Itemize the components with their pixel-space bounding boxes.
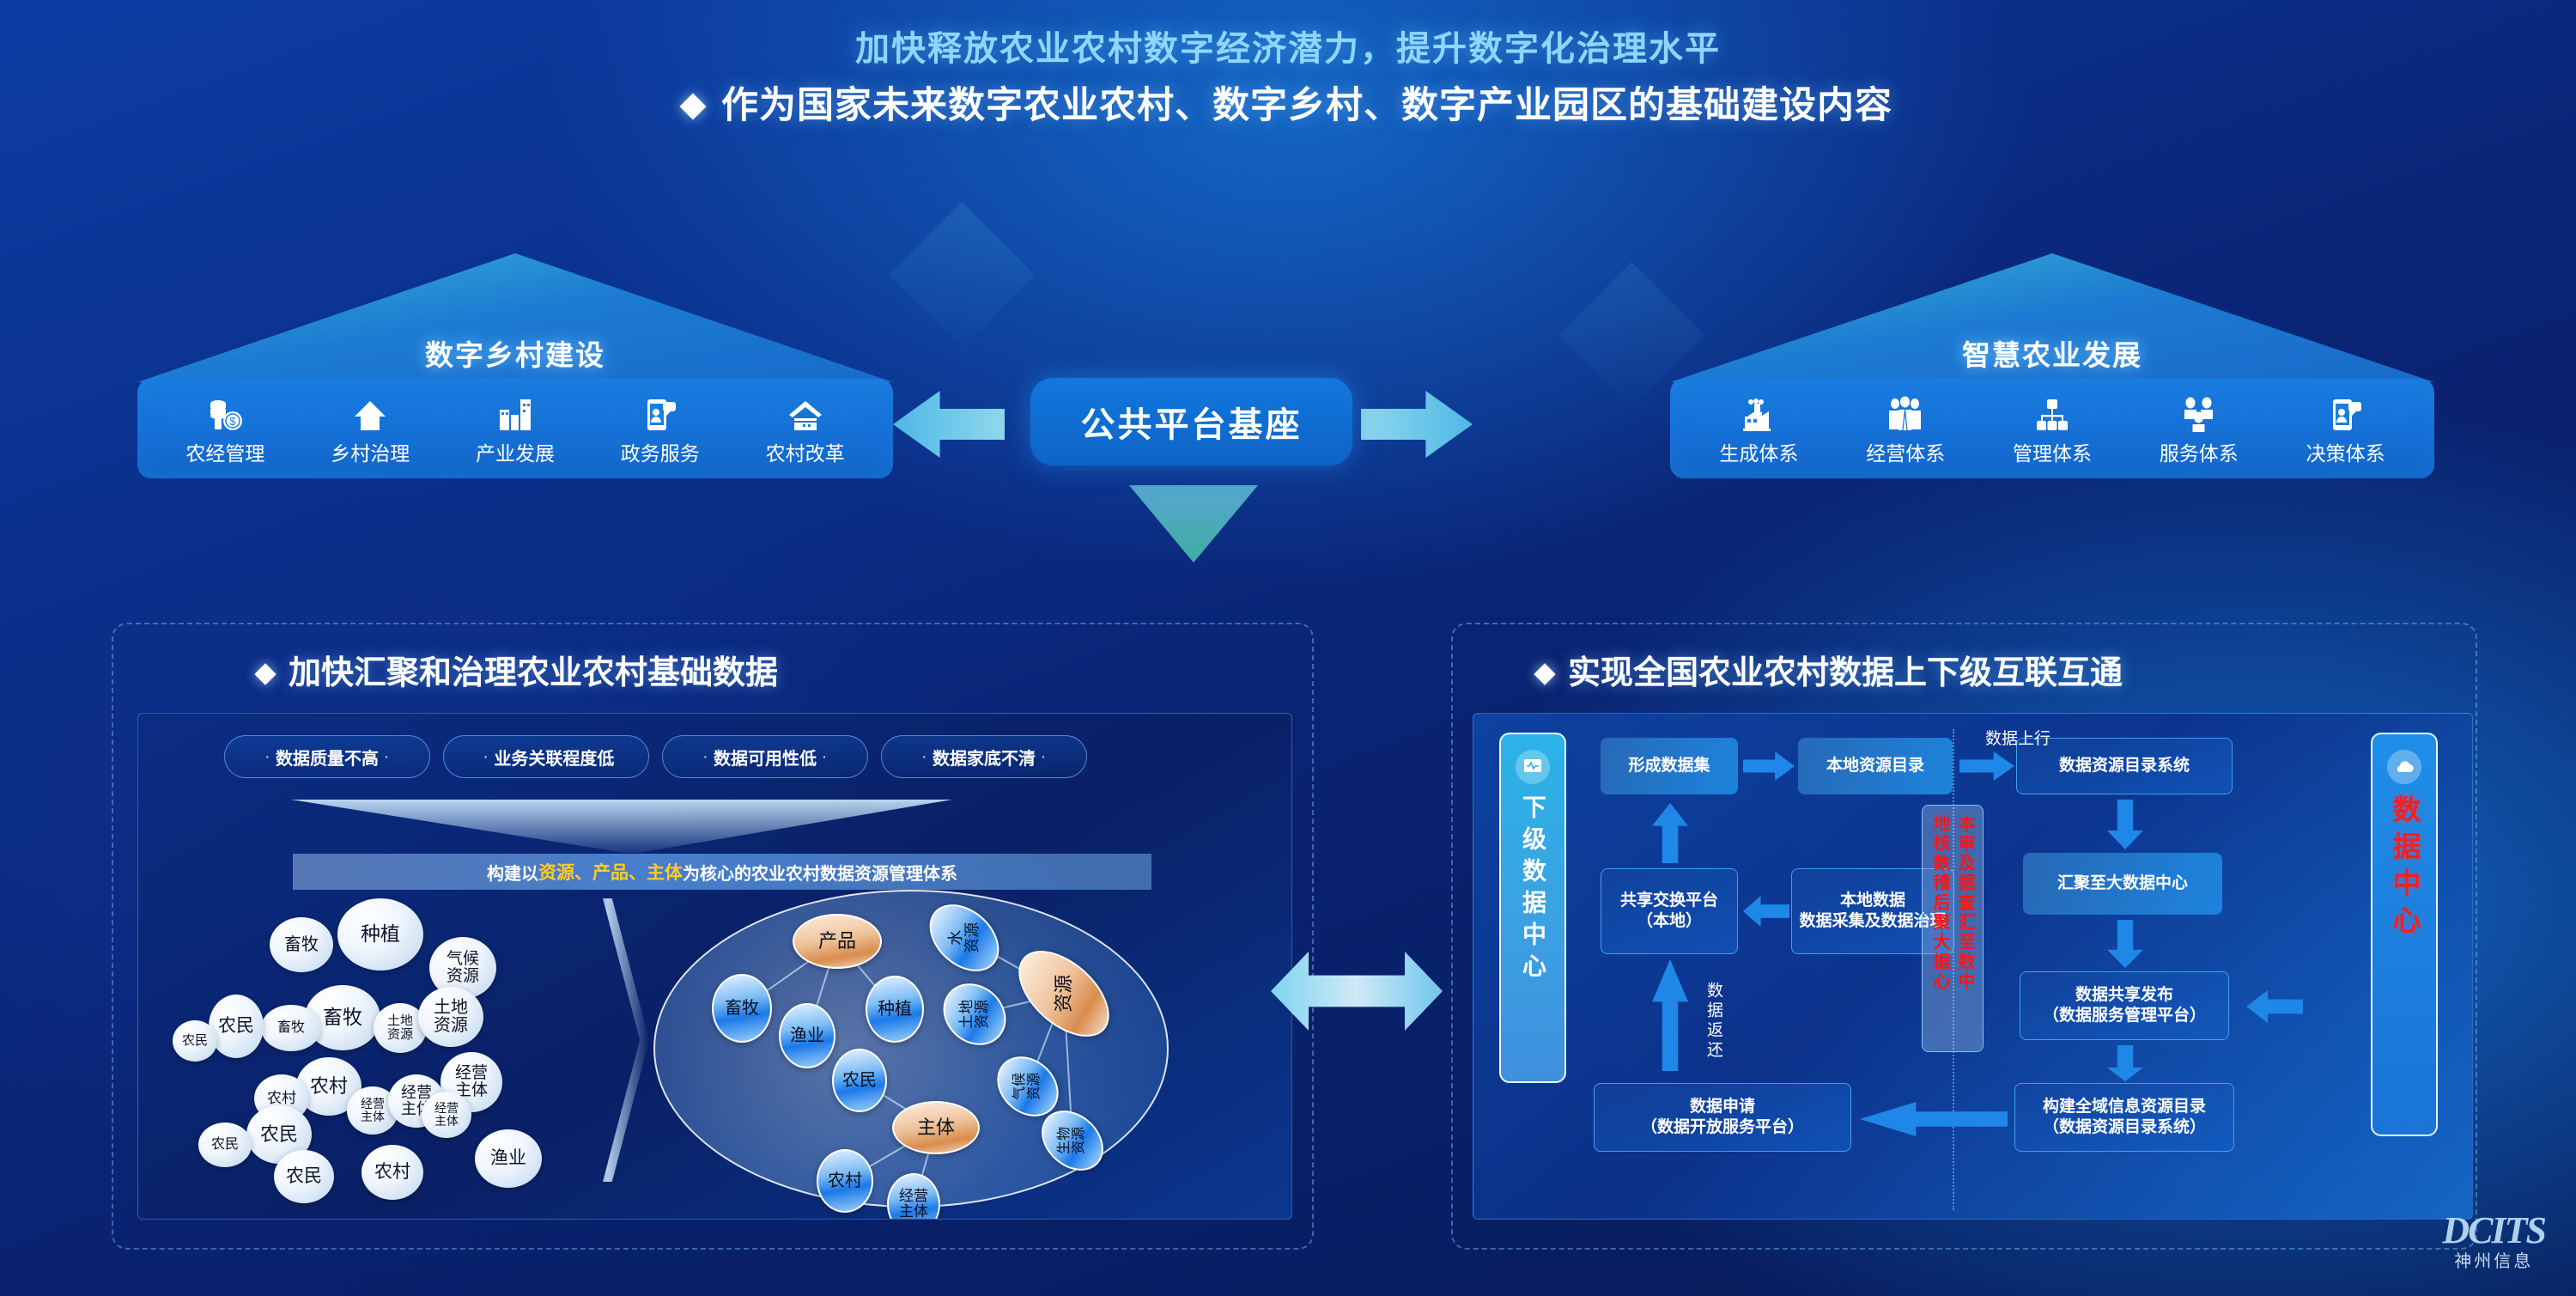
- diamond-bullet-icon: [254, 663, 276, 685]
- flow-box-aggregate-to-bigdata-center[interactable]: 汇聚至大数据中心: [2023, 853, 2222, 915]
- problem-pill-label: 数据家底不清: [933, 745, 1036, 770]
- graph-node-label: 种植: [878, 1001, 912, 1019]
- pill-dot-icon: ·: [823, 750, 827, 764]
- page-title: 加快释放农业农村数字经济潜力，提升数字化治理水平: [0, 21, 2576, 70]
- scatter-bubble: 农民: [209, 995, 264, 1058]
- graph-node-label: 土地 资源: [959, 1000, 990, 1029]
- house-item-xiangcunzhili[interactable]: 乡村治理: [319, 391, 421, 466]
- graph-node: 产品: [793, 914, 882, 969]
- right-panel-heading: 实现全国农业农村数据上下级互联互通: [1537, 646, 2123, 693]
- graph-node: 畜牧: [712, 974, 772, 1043]
- flow-arrow-left-icon: [1743, 896, 1789, 927]
- flow-arrow-from-center-icon: [2246, 990, 2303, 1023]
- scatter-bubble: 经营 主体: [422, 1092, 471, 1138]
- flow-arrow-right-icon: [1743, 751, 1795, 781]
- graph-node: 主体: [892, 1101, 980, 1154]
- flow-box-form-dataset[interactable]: 形成数据集: [1601, 738, 1738, 794]
- factory-icon: [1708, 391, 1809, 434]
- house-item-nongjingguanli[interactable]: $ 农经管理: [174, 391, 276, 466]
- right-panel-body: 下级数据中心 数据中心 形成数据集 本地资源目录 数据资源目录系统 共享交换平台…: [1473, 713, 2473, 1220]
- svg-text:$: $: [230, 415, 237, 428]
- people-network-icon: [2148, 391, 2250, 434]
- upstream-label: 数据上行: [1985, 726, 2050, 749]
- buildings-icon: [465, 391, 566, 434]
- diamond-bullet-icon: [679, 93, 706, 119]
- banner-highlight: 资源、产品、主体: [538, 859, 683, 885]
- house-item-label: 服务体系: [2148, 437, 2250, 466]
- cloud-icon: [2387, 750, 2421, 784]
- scatter-bubble: 土地 资源: [418, 987, 483, 1047]
- lower-data-center-label: 下级数据中心: [1516, 794, 1550, 985]
- return-label: 数据返还: [1702, 982, 1725, 1061]
- flow-box-build-global-catalog[interactable]: 构建全域信息资源目录 （数据资源目录系统）: [2014, 1083, 2234, 1152]
- problem-pill[interactable]: ·数据可用性低·: [662, 735, 868, 778]
- house-item-fuwutixi[interactable]: 服务体系: [2148, 391, 2250, 466]
- graph-node-label: 资源: [1054, 975, 1073, 1013]
- scatter-bubble: 渔业: [475, 1129, 542, 1188]
- arrow-right-icon: [1361, 391, 1473, 458]
- slide-canvas: 加快释放农业农村数字经济潜力，提升数字化治理水平 作为国家未来数字农业农村、数字…: [0, 0, 2576, 1296]
- pill-dot-icon: ·: [385, 750, 389, 764]
- flow-arrow-upstream-icon: [1959, 751, 2014, 781]
- banner-prefix: 构建以: [487, 860, 538, 885]
- scatter-bubble: 畜牧: [270, 917, 333, 972]
- pill-dot-icon: ·: [703, 750, 708, 764]
- logo-cn-name: 神州信息: [2442, 1247, 2545, 1272]
- unstructured-data-cloud: 畜牧种植气候 资源畜牧畜牧农民农民土地 资源土地 资源经营 主体农村农村经营 主…: [173, 896, 568, 1214]
- scatter-bubble: 农民: [198, 1123, 252, 1167]
- lower-data-center-bar[interactable]: 下级数据中心: [1499, 733, 1566, 1083]
- mobile-decision-icon: [2295, 391, 2397, 434]
- house-item-zhengwufuwu[interactable]: 政务服务: [610, 391, 711, 466]
- pill-dot-icon: ·: [484, 750, 489, 764]
- page-subtitle-text: 作为国家未来数字农业农村、数字乡村、数字产业园区的基础建设内容: [721, 85, 1893, 126]
- flow-box-data-share-publish[interactable]: 数据共享发布 （数据服务管理平台）: [2020, 971, 2229, 1040]
- flow-arrow-up-icon: [1652, 959, 1688, 1071]
- pill-dot-icon: ·: [265, 750, 270, 764]
- decor-diamond-icon: [889, 202, 1035, 348]
- scatter-bubble: 农民: [274, 1150, 334, 1203]
- audit-note-column: 地核数稽后聚大据心 本审及据查汇至数中: [1922, 805, 1984, 1052]
- flow-box-data-request[interactable]: 数据申请 （数据开放服务平台）: [1594, 1083, 1851, 1152]
- left-panel-heading: 加快汇聚和治理农业农村基础数据: [258, 646, 778, 693]
- house-title-left: 数字乡村建设: [137, 332, 893, 374]
- money-stack-icon: $: [174, 391, 276, 434]
- graph-node: 渔业: [779, 1003, 835, 1068]
- problem-pill-label: 业务关联程度低: [494, 745, 614, 770]
- graph-node-label: 产品: [818, 931, 856, 951]
- page-subtitle: 作为国家未来数字农业农村、数字乡村、数字产业园区的基础建设内容: [0, 76, 2576, 129]
- graph-node: 种植: [866, 976, 924, 1043]
- house-items-right: 生成体系 经营体系 管理体系 服务体系: [1670, 379, 2434, 478]
- flow-arrow-up-icon: [1652, 803, 1688, 863]
- data-center-label: 数据中心: [2384, 794, 2425, 942]
- problem-pill-label: 数据可用性低: [714, 745, 817, 770]
- house-item-label: 决策体系: [2295, 437, 2397, 466]
- graph-node-label: 主体: [917, 1117, 955, 1137]
- house-item-label: 乡村治理: [319, 437, 421, 466]
- scatter-bubble: 农民: [173, 1020, 217, 1062]
- logo-mark: DCITS: [2442, 1208, 2545, 1252]
- monitor-icon: [1516, 750, 1550, 784]
- graph-node-label: 农民: [842, 1072, 877, 1090]
- flow-box-local-resource-catalog[interactable]: 本地资源目录: [1798, 738, 1953, 794]
- house-title-right: 智慧农业发展: [1670, 332, 2434, 374]
- house-item-label: 经营体系: [1855, 437, 1956, 466]
- scatter-bubble: 种植: [337, 898, 423, 970]
- house-item-jingyingtixi[interactable]: 经营体系: [1855, 391, 1956, 466]
- banner-suffix: 为核心的农业农村数据资源管理体系: [683, 860, 957, 885]
- house-item-label: 政务服务: [610, 437, 711, 466]
- house-item-label: 农经管理: [174, 437, 276, 466]
- house-digital-village: 数字乡村建设 $ 农经管理 乡村治理 产业发展: [137, 253, 893, 485]
- mobile-service-icon: [610, 391, 711, 434]
- house-smart-agriculture: 智慧农业发展 生成体系 经营体系 管理体系: [1670, 253, 2434, 485]
- audit-note-col2: 本审及据查汇至数中: [1953, 814, 1978, 1043]
- graph-node: 农民: [832, 1049, 887, 1112]
- org-chart-icon: [2002, 391, 2103, 434]
- problem-pill-label: 数据质量不高: [276, 745, 379, 770]
- company-logo: DCITS 神州信息: [2442, 1208, 2545, 1272]
- house-item-chanyefazhan[interactable]: 产业发展: [465, 391, 566, 466]
- house-item-juecetixi[interactable]: 决策体系: [2295, 391, 2397, 466]
- flow-box-share-exchange-platform[interactable]: 共享交换平台 （本地）: [1601, 868, 1738, 954]
- arrow-left-icon: [893, 391, 1005, 458]
- flow-arrow-down-icon: [2107, 800, 2143, 849]
- flow-arrow-down-icon: [2107, 920, 2143, 968]
- problem-pill[interactable]: ·数据质量不高·: [224, 735, 430, 778]
- transition-divider-icon: [572, 898, 649, 1182]
- house-items-left: $ 农经管理 乡村治理 产业发展 政务服务: [137, 379, 893, 478]
- left-panel-body: ·数据质量不高· ·业务关联程度低 ·数据可用性低· ·数据家底不清· 构建以资…: [137, 713, 1292, 1220]
- funnel-shape: [291, 800, 952, 853]
- house-item-label: 生成体系: [1708, 437, 1809, 466]
- graph-node: 农村: [817, 1149, 873, 1213]
- house-item-label: 产业发展: [465, 437, 566, 466]
- arrow-down-icon: [1129, 485, 1258, 563]
- data-center-bar[interactable]: 数据中心: [2371, 733, 2438, 1136]
- house-icon: [319, 391, 421, 434]
- village-house-icon: [755, 391, 856, 434]
- left-panel-heading-text: 加快汇聚和治理农业农村基础数据: [289, 655, 778, 691]
- diamond-bullet-icon: [1534, 663, 1555, 685]
- graph-node-label: 气候 资源: [1013, 1073, 1042, 1100]
- problem-pill[interactable]: ·业务关联程度低: [443, 735, 649, 778]
- graph-node-label: 渔业: [790, 1027, 824, 1045]
- graph-node-label: 生物 资源: [1058, 1127, 1087, 1154]
- house-item-nongcungaige[interactable]: 农村改革: [755, 391, 856, 466]
- audit-note-col1: 地核数稽后聚大据心: [1928, 814, 1953, 1043]
- structured-data-graph: 产品水 资源资源畜牧种植土地 资源渔业农民气候 资源主体生物 资源农村经营 主体: [653, 890, 1169, 1208]
- scatter-bubble: 农村: [361, 1145, 423, 1200]
- house-item-guanlitixi[interactable]: 管理体系: [2002, 391, 2103, 466]
- pill-dot-icon: ·: [1042, 750, 1046, 764]
- pill-dot-icon: ·: [922, 750, 927, 764]
- graph-node-label: 畜牧: [725, 1000, 759, 1018]
- right-panel-heading-text: 实现全国农业农村数据上下级互联互通: [1568, 655, 2123, 691]
- graph-node-label: 经营 主体: [899, 1189, 928, 1220]
- graph-node-label: 水 资源: [948, 922, 981, 953]
- people-group-icon: [1855, 391, 1956, 434]
- platform-base-pill[interactable]: 公共平台基座: [1030, 378, 1352, 465]
- core-system-banner: 构建以资源、产品、主体为核心的农业农村数据资源管理体系: [293, 854, 1151, 890]
- flow-arrow-left-long-icon: [1860, 1102, 2008, 1136]
- flow-arrow-down-icon: [2107, 1045, 2143, 1081]
- problem-pill[interactable]: ·数据家底不清·: [881, 735, 1087, 778]
- house-item-shengchengtixi[interactable]: 生成体系: [1708, 391, 1809, 466]
- house-item-label: 管理体系: [2002, 437, 2103, 466]
- house-item-label: 农村改革: [755, 437, 856, 466]
- graph-node-label: 农村: [828, 1172, 862, 1190]
- scatter-bubble: 畜牧: [261, 1005, 321, 1051]
